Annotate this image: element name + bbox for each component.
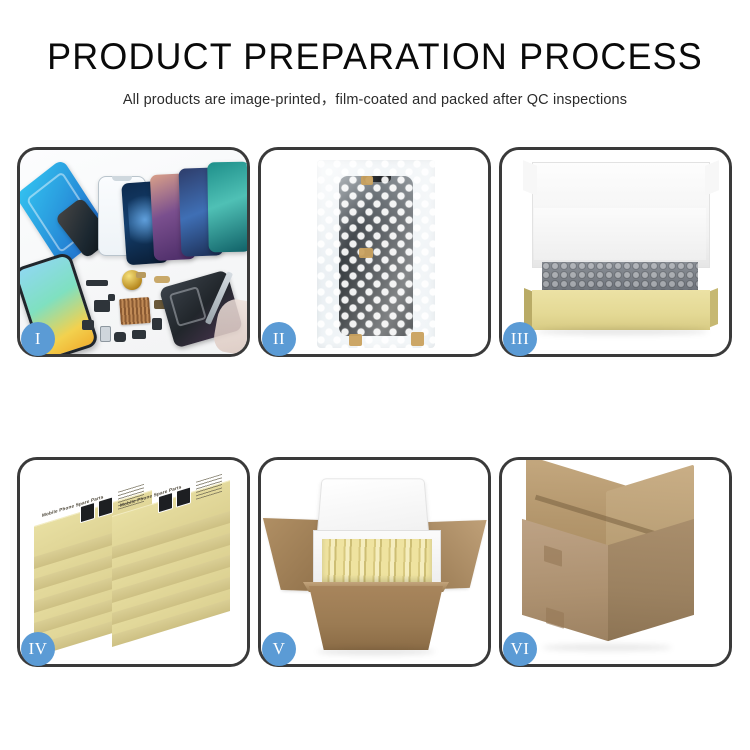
panel-badge-3: III — [503, 322, 537, 356]
process-panel-1: I — [17, 147, 250, 357]
open-yellow-box-image — [502, 150, 729, 354]
carton-with-foam-image — [261, 460, 488, 664]
plastic-sheen — [317, 160, 435, 348]
drop-shadow — [542, 644, 672, 651]
component-part-icon — [94, 300, 110, 312]
phone-fan-group — [120, 160, 247, 265]
yellow-boxes-inside — [322, 539, 432, 583]
box-stack: Mobile Phone Spare Parts — [24, 468, 247, 664]
component-part-icon — [152, 318, 162, 330]
drop-shadow — [317, 648, 435, 655]
tape-piece-icon — [411, 332, 424, 346]
tape-piece-icon — [359, 248, 373, 258]
carton-body — [309, 586, 443, 650]
bubble-wrap-bag — [317, 160, 435, 348]
tape-piece-icon — [349, 334, 362, 346]
panel-badge-6: VI — [503, 632, 537, 666]
phone-parts-assortment-image — [20, 150, 247, 354]
bubble-wrap-fill-icon — [542, 262, 698, 292]
page-subtitle: All products are image-printed，film-coat… — [0, 88, 750, 109]
bubble-wrapped-screen-image — [261, 150, 488, 354]
page-title: PRODUCT PREPARATION PROCESS — [11, 38, 739, 77]
yellow-box-front — [532, 290, 710, 330]
phone-teal-icon — [207, 162, 247, 253]
copper-grid-chip-icon — [119, 297, 151, 325]
component-part-icon — [132, 330, 146, 339]
component-part-icon — [136, 272, 146, 278]
process-panel-2: II — [258, 147, 491, 357]
component-part-icon — [154, 276, 170, 283]
process-panel-6: VI — [499, 457, 732, 667]
panel-badge-1: I — [21, 322, 55, 356]
component-part-icon — [114, 332, 126, 342]
drop-shadow — [536, 328, 708, 335]
panel-badge-4: IV — [21, 632, 55, 666]
process-panel-4: Mobile Phone Spare Parts — [17, 457, 250, 667]
component-part-icon — [100, 326, 111, 342]
component-part-icon — [82, 320, 94, 330]
component-part-icon — [86, 280, 108, 286]
foam-sheet-icon — [534, 208, 706, 260]
process-panel-5: V — [258, 457, 491, 667]
panel-badge-2: II — [262, 322, 296, 356]
component-part-icon — [108, 294, 115, 301]
page-header: PRODUCT PREPARATION PROCESS All products… — [0, 0, 750, 109]
panel-badge-5: V — [262, 632, 296, 666]
tape-piece-icon — [361, 176, 373, 185]
process-panel-grid: I II III — [17, 147, 733, 667]
sealed-carton-image — [502, 460, 729, 664]
process-panel-3: III — [499, 147, 732, 357]
stacked-boxes-image: Mobile Phone Spare Parts — [20, 460, 247, 664]
